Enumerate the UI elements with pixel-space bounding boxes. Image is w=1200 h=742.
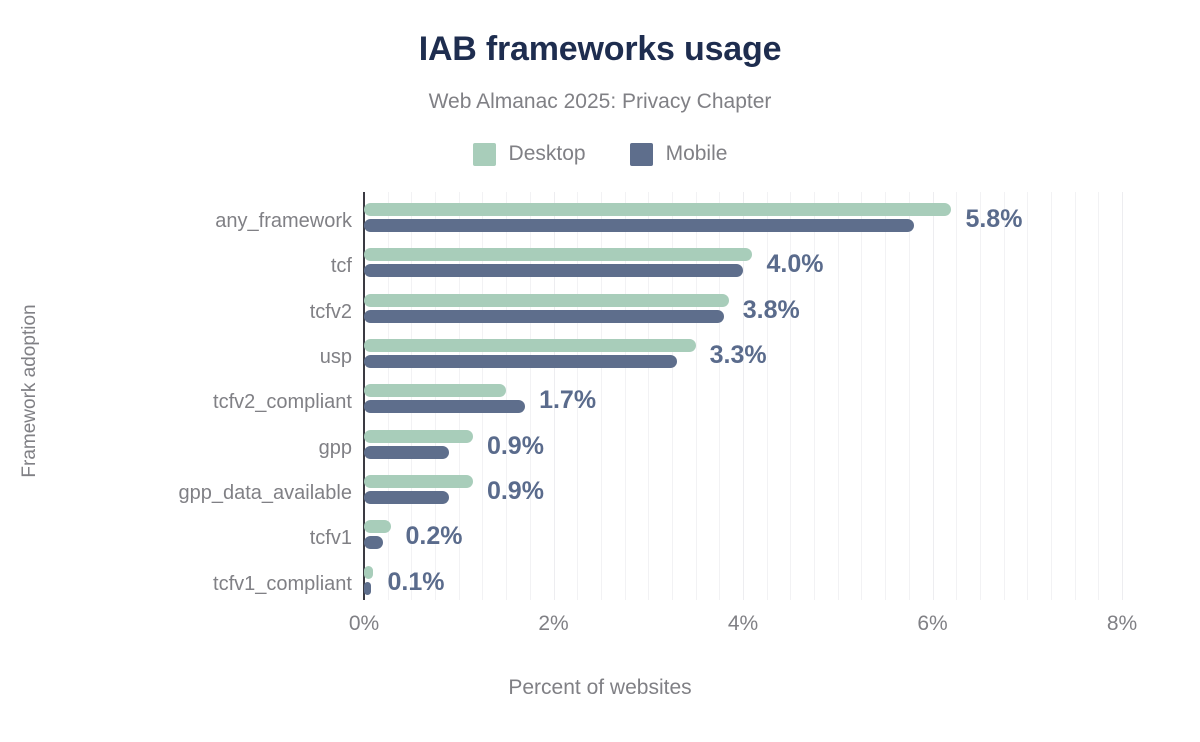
bar-value-label: 0.9%	[487, 477, 544, 506]
x-axis-tick: 4%	[728, 612, 758, 636]
legend-item-desktop[interactable]: Desktop	[473, 142, 586, 166]
bar-desktop	[364, 475, 473, 488]
bar-mobile	[364, 264, 743, 277]
bar-group: 0.9%	[364, 430, 1122, 459]
y-axis-label-tcfv2: tcfv2	[12, 301, 352, 324]
bar-desktop	[364, 430, 473, 443]
y-axis-label-tcf: tcf	[12, 255, 352, 278]
bar-group: 1.7%	[364, 384, 1122, 413]
bar-value-label: 0.2%	[405, 522, 462, 551]
bar-group: 5.8%	[364, 203, 1122, 232]
legend-label: Desktop	[509, 142, 586, 166]
bar-desktop	[364, 384, 506, 397]
legend-item-mobile[interactable]: Mobile	[630, 142, 728, 166]
bar-group: 4.0%	[364, 248, 1122, 277]
bar-desktop	[364, 566, 373, 579]
plot-area: 5.8%4.0%3.8%3.3%1.7%0.9%0.9%0.2%0.1%	[364, 192, 1122, 600]
y-axis-label-tcfv1: tcfv1	[12, 527, 352, 550]
legend-swatch-icon	[473, 143, 496, 166]
bar-group: 3.8%	[364, 294, 1122, 323]
bar-value-label: 5.8%	[965, 205, 1022, 234]
x-axis-tick: 0%	[349, 612, 379, 636]
y-axis-tick-labels: any_frameworktcftcfv2usptcfv2_compliantg…	[0, 192, 352, 600]
bar-mobile	[364, 310, 724, 323]
bar-value-label: 1.7%	[539, 386, 596, 415]
y-axis-label-tcfv1_compliant: tcfv1_compliant	[12, 573, 352, 596]
bar-value-label: 0.1%	[387, 568, 444, 597]
gridline	[1122, 192, 1123, 600]
y-axis-label-gpp: gpp	[12, 437, 352, 460]
chart-subtitle: Web Almanac 2025: Privacy Chapter	[0, 90, 1200, 114]
x-axis-tick: 8%	[1107, 612, 1137, 636]
bar-mobile	[364, 446, 449, 459]
bar-value-label: 3.8%	[743, 296, 800, 325]
x-axis-tick: 2%	[538, 612, 568, 636]
chart-title: IAB frameworks usage	[0, 30, 1200, 69]
y-axis-label-any_framework: any_framework	[12, 210, 352, 233]
chart-container: IAB frameworks usage Web Almanac 2025: P…	[0, 0, 1200, 742]
bar-mobile	[364, 400, 525, 413]
bar-desktop	[364, 339, 696, 352]
bar-mobile	[364, 355, 677, 368]
legend-label: Mobile	[666, 142, 728, 166]
y-axis-label-gpp_data_available: gpp_data_available	[12, 482, 352, 505]
bar-desktop	[364, 203, 951, 216]
legend-swatch-icon	[630, 143, 653, 166]
bar-mobile	[364, 219, 914, 232]
chart-legend: DesktopMobile	[0, 142, 1200, 166]
bar-desktop	[364, 248, 752, 261]
y-axis-label-usp: usp	[12, 346, 352, 369]
bar-group: 3.3%	[364, 339, 1122, 368]
bar-group: 0.2%	[364, 520, 1122, 549]
bar-value-label: 3.3%	[710, 341, 767, 370]
bar-mobile	[364, 491, 449, 504]
x-axis-title: Percent of websites	[0, 676, 1200, 700]
bar-mobile	[364, 536, 383, 549]
bar-group: 0.9%	[364, 475, 1122, 504]
bar-value-label: 0.9%	[487, 432, 544, 461]
x-axis-tick-labels: 0%2%4%6%8%	[0, 612, 1200, 646]
bar-desktop	[364, 520, 391, 533]
bar-group: 0.1%	[364, 566, 1122, 595]
bar-desktop	[364, 294, 729, 307]
bar-mobile	[364, 582, 371, 595]
y-axis-label-tcfv2_compliant: tcfv2_compliant	[12, 391, 352, 414]
bar-value-label: 4.0%	[766, 250, 823, 279]
x-axis-tick: 6%	[917, 612, 947, 636]
